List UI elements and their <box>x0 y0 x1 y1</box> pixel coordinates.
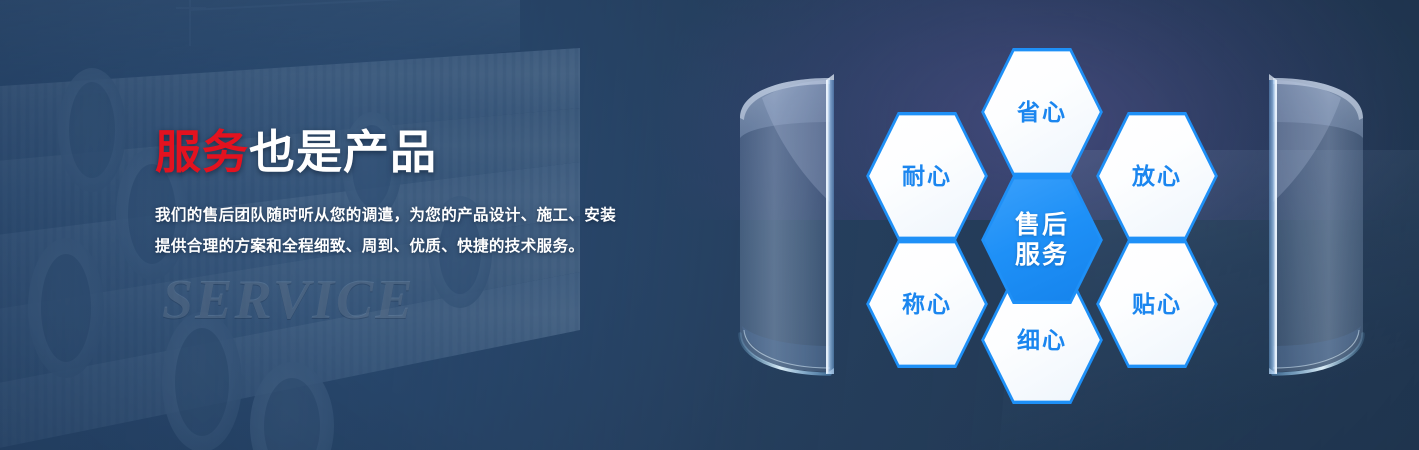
subtext-line-2: 提供合理的方案和全程细致、周到、优质、快捷的技术服务。 <box>155 231 755 263</box>
hexagon-label: 细心 <box>1017 326 1067 354</box>
hexagon-tiexin[interactable]: 贴心 <box>1096 240 1218 368</box>
watermark-service: SERVICE <box>162 268 415 332</box>
hexagon-center-line-1: 售后 <box>1015 210 1069 241</box>
hexagon-label: 放心 <box>1132 162 1182 190</box>
hexagon-center-after-sales-service[interactable]: 售后 服务 <box>981 176 1103 304</box>
hexagon-center-label: 售后 服务 <box>1015 210 1069 271</box>
glass-cylinder-right <box>1215 26 1385 426</box>
service-banner: SERVICE 服务也是产品 我们的售后团队随时听从您的调遣，为您的产品设计、施… <box>0 0 1419 450</box>
hexagon-label: 贴心 <box>1132 290 1182 318</box>
hexagon-label: 耐心 <box>902 162 952 190</box>
hexagon-fangxin[interactable]: 放心 <box>1096 112 1218 240</box>
page-title: 服务也是产品 <box>155 128 755 178</box>
headline-highlight: 服务 <box>155 126 249 178</box>
hexagon-center-line-2: 服务 <box>1015 240 1069 271</box>
hexagon-shengxin[interactable]: 省心 <box>981 48 1103 176</box>
hexagon-label: 称心 <box>902 290 952 318</box>
hexagon-chengxin[interactable]: 称心 <box>866 240 988 368</box>
hexagon-naixin[interactable]: 耐心 <box>866 112 988 240</box>
headline-rest: 也是产品 <box>249 126 437 178</box>
headline-subtext: 我们的售后团队随时听从您的调遣，为您的产品设计、施工、安装 提供合理的方案和全程… <box>155 200 755 264</box>
subtext-line-1: 我们的售后团队随时听从您的调遣，为您的产品设计、施工、安装 <box>155 200 755 232</box>
hexagon-cluster: 耐心 省心 放心 称心 细心 贴心 <box>866 48 1218 404</box>
headline-text-block: 服务也是产品 我们的售后团队随时听从您的调遣，为您的产品设计、施工、安装 提供合… <box>155 128 755 263</box>
hexagon-label: 省心 <box>1017 98 1067 126</box>
